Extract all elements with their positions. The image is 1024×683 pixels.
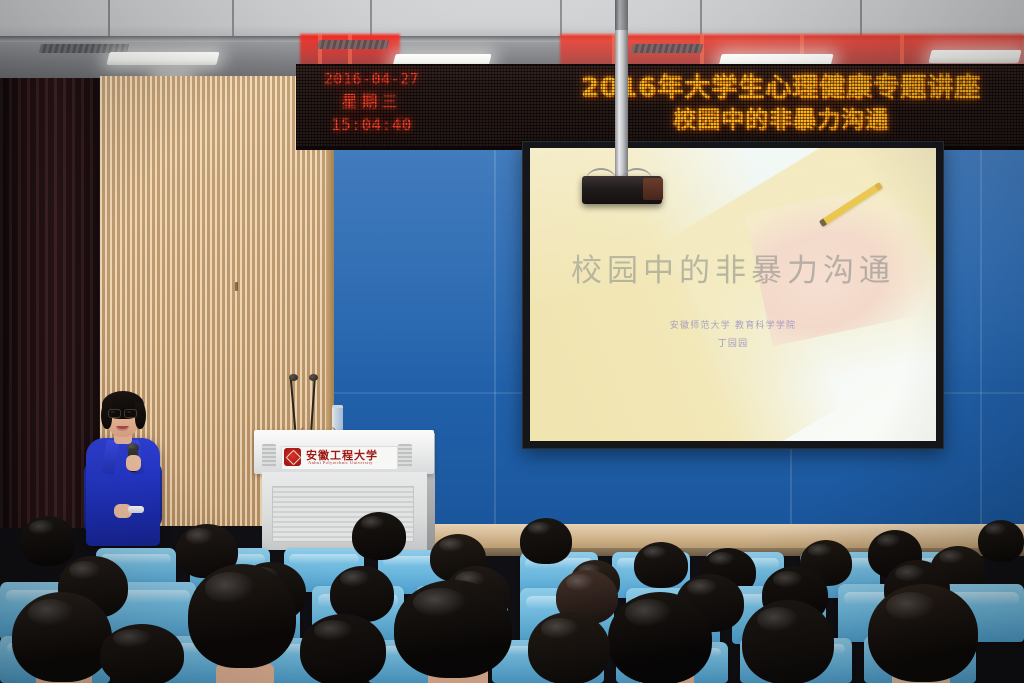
led-time: 15:04:40 [304,113,439,136]
speaker-hand-left [126,455,141,471]
ceiling-vent [317,40,389,49]
wall-seam [494,86,496,526]
audience-head [634,542,688,588]
led-weekday: 星期三 [304,90,439,113]
ceiling-seam [860,0,862,36]
audience-head [520,518,572,564]
slide-subtitle: 安徽师范大学 教育科学学院 [530,318,936,331]
audience-head [12,592,112,682]
audience-head [868,584,978,682]
audience-head [352,512,406,560]
audience-head [188,564,296,668]
led-title-block: 2016年大学生心理健康专题讲座 校园中的非暴力沟通 [541,71,1021,135]
audience-head [20,516,76,566]
podium-speaker-vent [398,444,412,468]
wall-seam [980,86,982,526]
ceiling-seam [560,0,562,36]
audience-head [742,600,834,683]
led-title-line2: 校园中的非暴力沟通 [541,105,1021,135]
led-title-line1: 2016年大学生心理健康专题讲座 [541,71,1021,105]
speaker-eye [127,411,131,413]
microphone-head [309,374,318,381]
slide-title: 校园中的非暴力沟通 [530,245,936,290]
audience-head [978,520,1024,562]
ceiling-seam [108,0,110,36]
ceiling-light [928,50,1021,63]
speaker-coat [86,438,160,546]
led-datetime-block: 2016-04-27 星期三 15:04:40 [304,68,439,136]
university-emblem-icon [284,448,301,466]
audience-head [608,592,712,683]
podium-speaker-vent [262,444,276,468]
presentation-clicker [128,506,144,513]
audience-head [528,612,610,683]
projector-pole-top [615,0,628,30]
projector-side-panel [643,178,663,200]
led-banner: 2016-04-27 星期三 15:04:40 2016年大学生心理健康专题讲座… [296,64,1024,150]
ceiling-vent [631,44,703,53]
microphone-head [289,374,298,381]
audience-head [394,580,512,678]
audience-head [300,614,386,683]
wall-fixture [235,282,238,291]
audience-head [100,624,184,683]
lecture-hall-photo: 2016-04-27 星期三 15:04:40 2016年大学生心理健康专题讲座… [0,0,1024,683]
podium-university-name-en: Anhui Polytechnic University [308,460,373,465]
ceiling-light [106,52,219,65]
ceiling-seam [232,0,234,36]
slide-author: 丁园园 [530,336,936,349]
led-date: 2016-04-27 [304,68,439,90]
ceiling-seam [700,0,702,36]
ceiling-seam [370,0,372,36]
speaker-eye [111,411,115,413]
